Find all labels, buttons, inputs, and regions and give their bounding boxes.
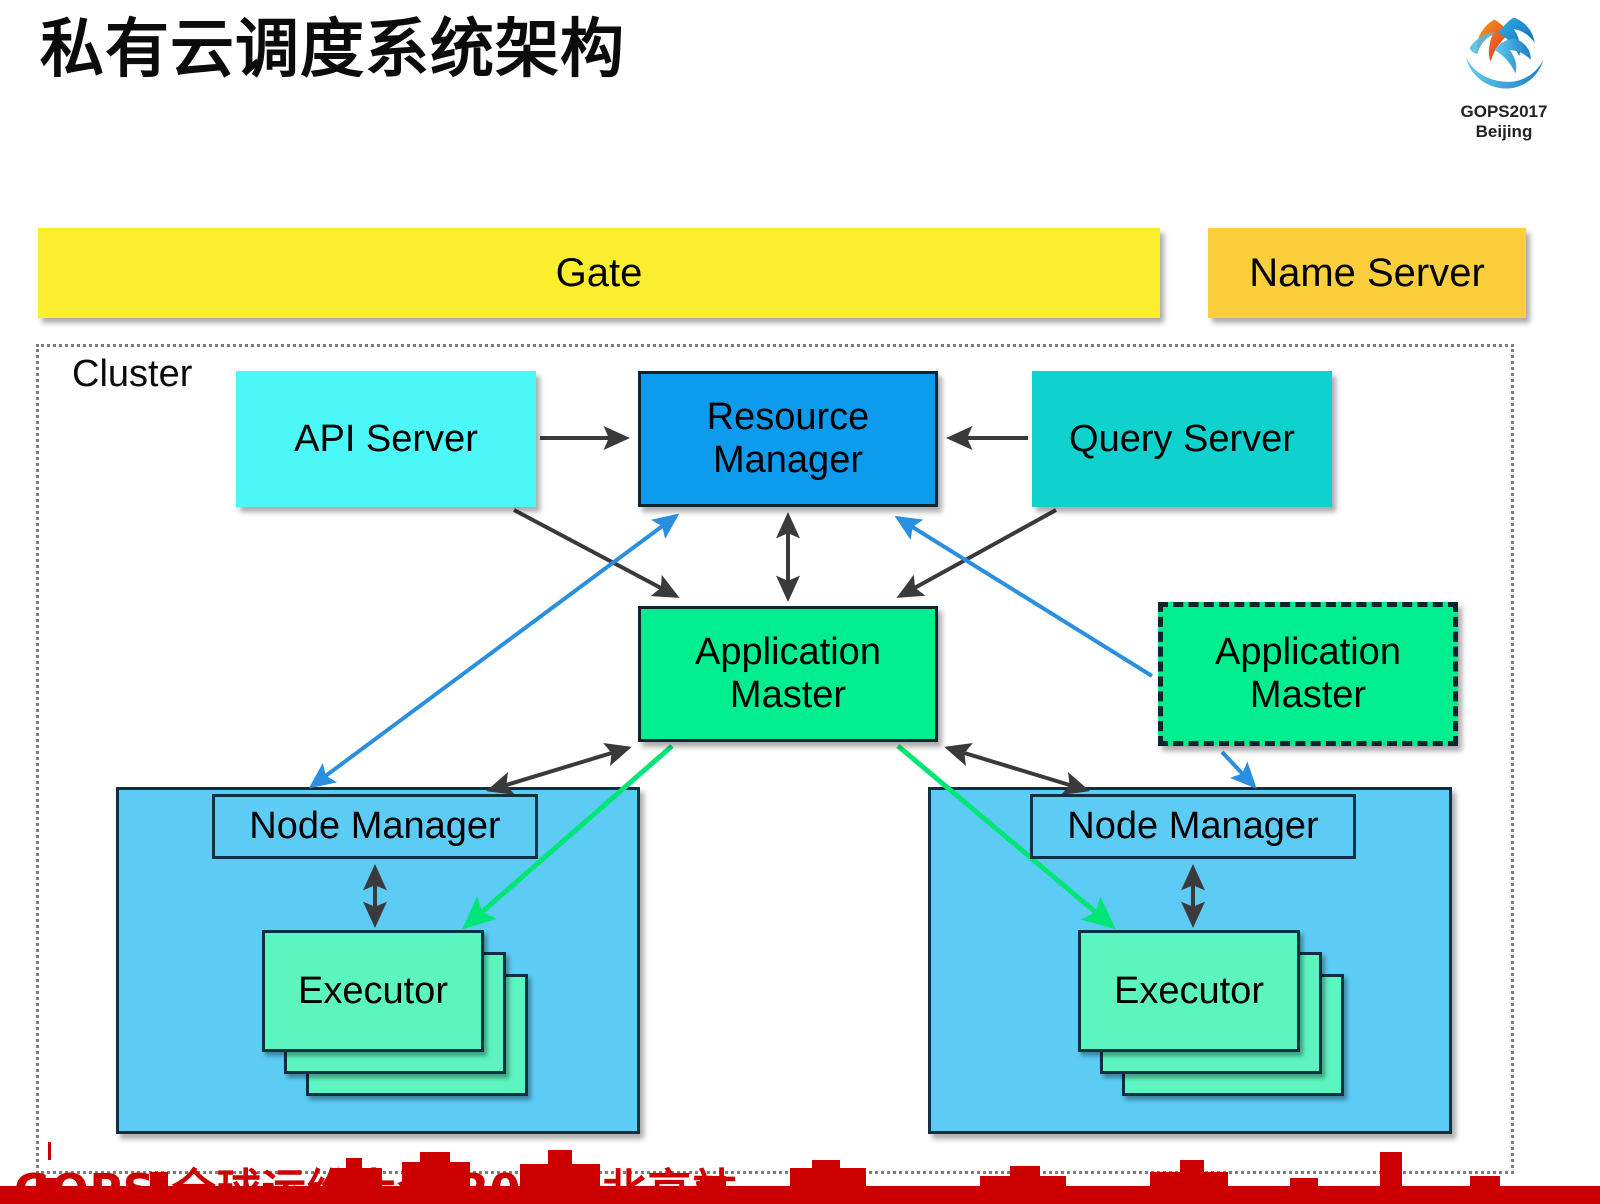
- application-master-box[interactable]: Application Master: [638, 606, 938, 742]
- executor-stack-right: Executor: [1078, 930, 1368, 1090]
- node-manager-left-box[interactable]: Node Manager: [212, 794, 538, 859]
- gate-box[interactable]: Gate: [38, 228, 1160, 318]
- cluster-label: Cluster: [72, 353, 192, 396]
- executor-card-front-right[interactable]: Executor: [1078, 930, 1300, 1052]
- footer-band: GOPS 全球运维大会 2017·北京站: [0, 1142, 1600, 1204]
- footer-text: GOPS 全球运维大会 2017·北京站: [14, 1154, 737, 1204]
- name-server-box[interactable]: Name Server: [1208, 228, 1526, 318]
- executor-card-front-left[interactable]: Executor: [262, 930, 484, 1052]
- api-server-box[interactable]: API Server: [236, 371, 536, 507]
- node-manager-right-box[interactable]: Node Manager: [1030, 794, 1356, 859]
- slide-canvas: 私有云调度系统架构: [0, 0, 1600, 1204]
- executor-stack-left: Executor: [262, 930, 552, 1090]
- query-server-box[interactable]: Query Server: [1032, 371, 1332, 507]
- page-title: 私有云调度系统架构: [40, 14, 625, 88]
- logo-line-2: Beijing: [1444, 122, 1564, 142]
- application-master-standby-box[interactable]: Application Master: [1158, 602, 1458, 746]
- gops-swirl-icon: [1456, 6, 1552, 102]
- gops-logo: GOPS2017 Beijing: [1444, 6, 1564, 141]
- logo-line-1: GOPS2017: [1444, 102, 1564, 122]
- resource-manager-box[interactable]: Resource Manager: [638, 371, 938, 507]
